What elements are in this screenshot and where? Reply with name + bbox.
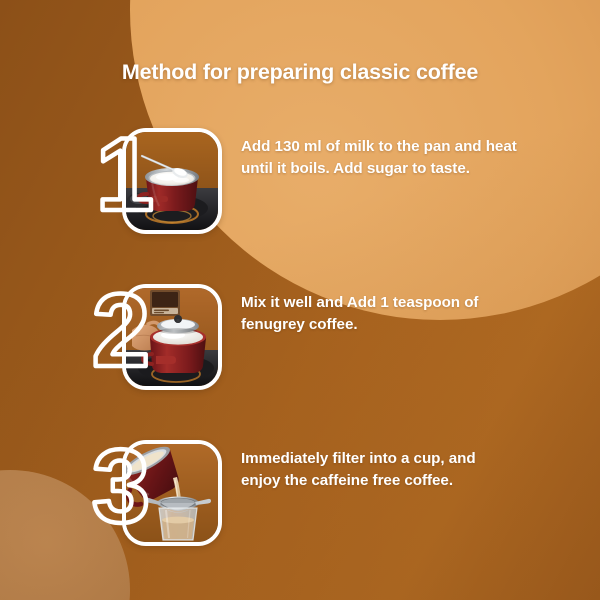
step-item: 2 [0, 284, 600, 404]
step-description: Add 130 ml of milk to the pan and heat u… [241, 136, 517, 179]
step-image-card-1 [122, 128, 222, 234]
steps-list: 1 [0, 0, 600, 600]
step-image-3 [126, 444, 218, 542]
step-image-2 [126, 288, 218, 386]
recipe-infographic: Method for preparing classic coffee 1 [0, 0, 600, 600]
step-item: 3 [0, 440, 600, 560]
step-image-1 [126, 132, 218, 230]
step-image-card-2 [122, 284, 222, 390]
step-image-card-3 [122, 440, 222, 546]
step-description: Mix it well and Add 1 teaspoon of fenugr… [241, 292, 517, 335]
step-description: Immediately filter into a cup, and enjoy… [241, 448, 517, 491]
step-item: 1 [0, 128, 600, 248]
